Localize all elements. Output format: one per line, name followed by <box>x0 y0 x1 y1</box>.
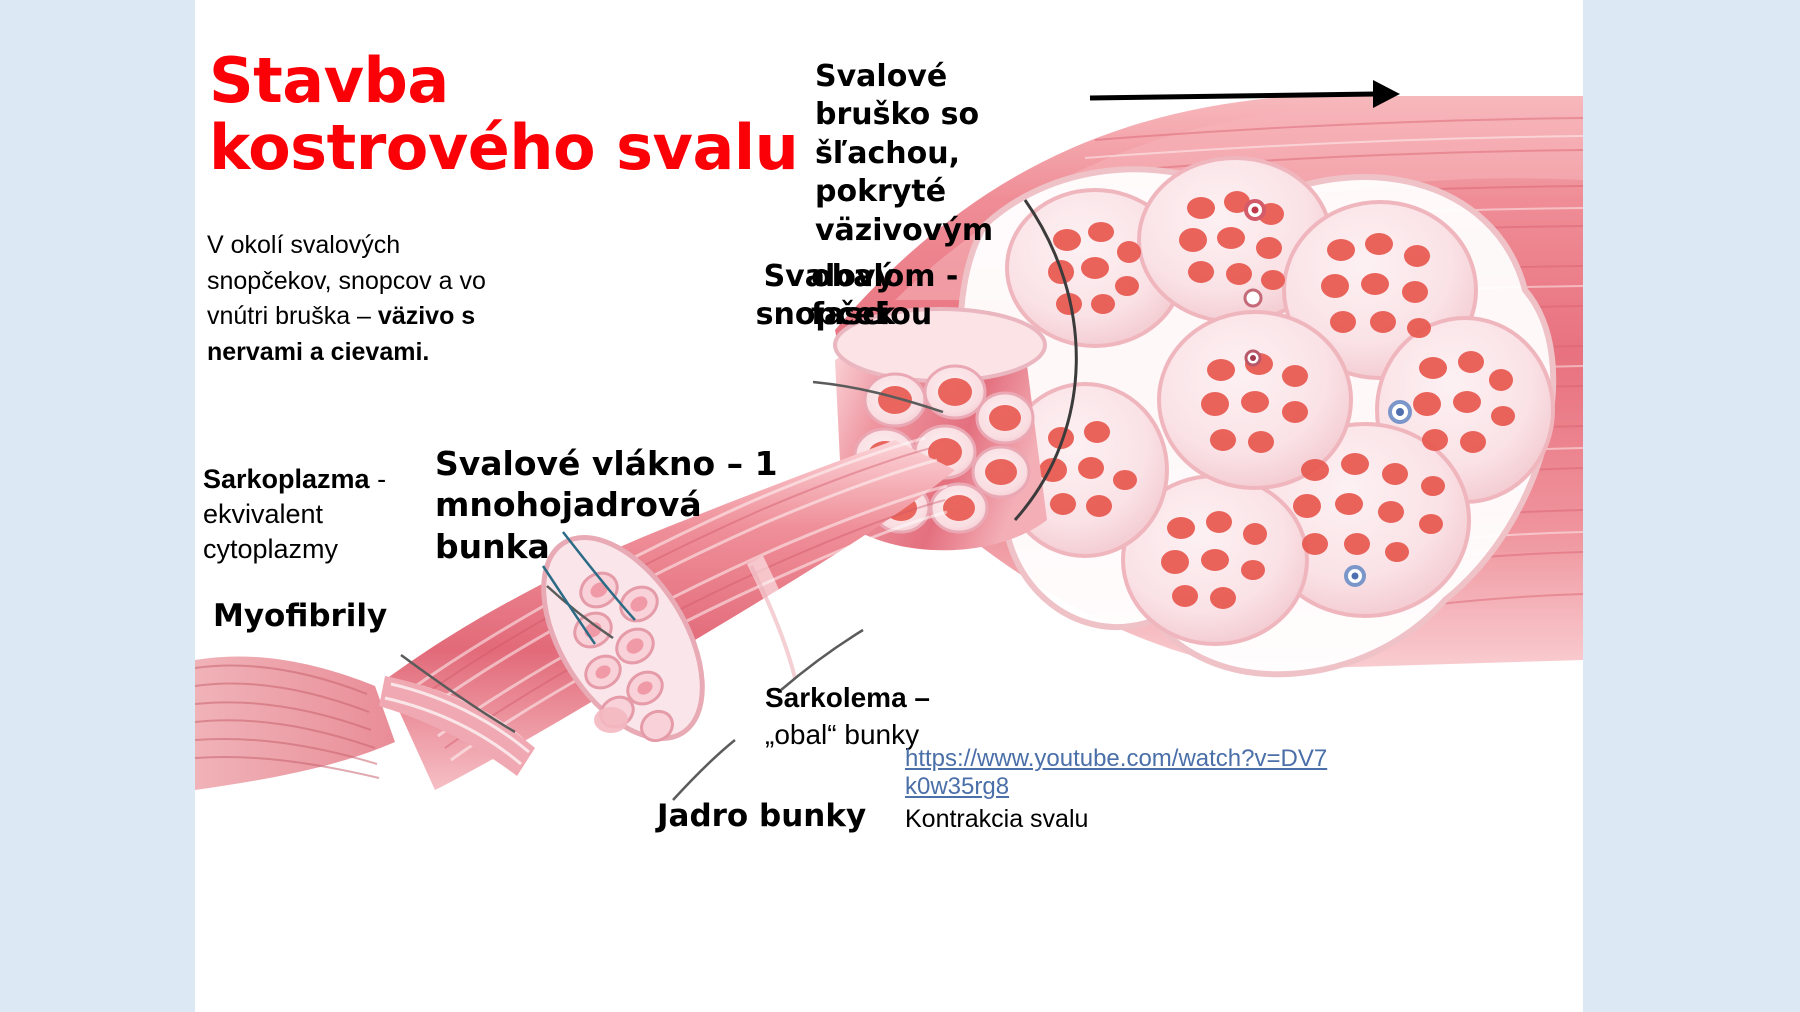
intro-paragraph: V okolí svalových snopčekov, snopcov a v… <box>207 228 507 370</box>
youtube-link[interactable]: https://www.youtube.com/watch?v=DV7k0w35… <box>905 745 1335 802</box>
page-title: Stavba kostrového svalu <box>209 48 819 182</box>
slide-canvas: Stavba kostrového svalu V okolí svalovýc… <box>195 0 1583 1012</box>
label-sarkoplazma-bold: Sarkoplazma <box>203 464 370 494</box>
direction-arrow <box>1090 80 1400 108</box>
label-svalove-brusko: Svalové bruško so šľachou, pokryté väziv… <box>815 58 1020 250</box>
label-jadro-bunky: Jadro bunky <box>657 798 866 834</box>
label-sarkolema-bold: Sarkolema – <box>765 680 1055 717</box>
label-svalove-vlakno: Svalové vlákno – 1 mnohojadrová bunka <box>435 443 805 567</box>
label-sarkolema: Sarkolema – „obal“ bunky <box>765 680 1055 754</box>
title-line-2: kostrového svalu <box>209 115 819 182</box>
link-caption: Kontrakcia svalu <box>905 805 1088 834</box>
label-myofibrily: Myofibrily <box>213 598 387 634</box>
label-obalom-fasciou: obalom - fasciou <box>811 258 1031 335</box>
title-line-1: Stavba <box>209 48 819 115</box>
label-sarkoplazma: Sarkoplazma - ekvivalent cytoplazmy <box>203 462 388 567</box>
